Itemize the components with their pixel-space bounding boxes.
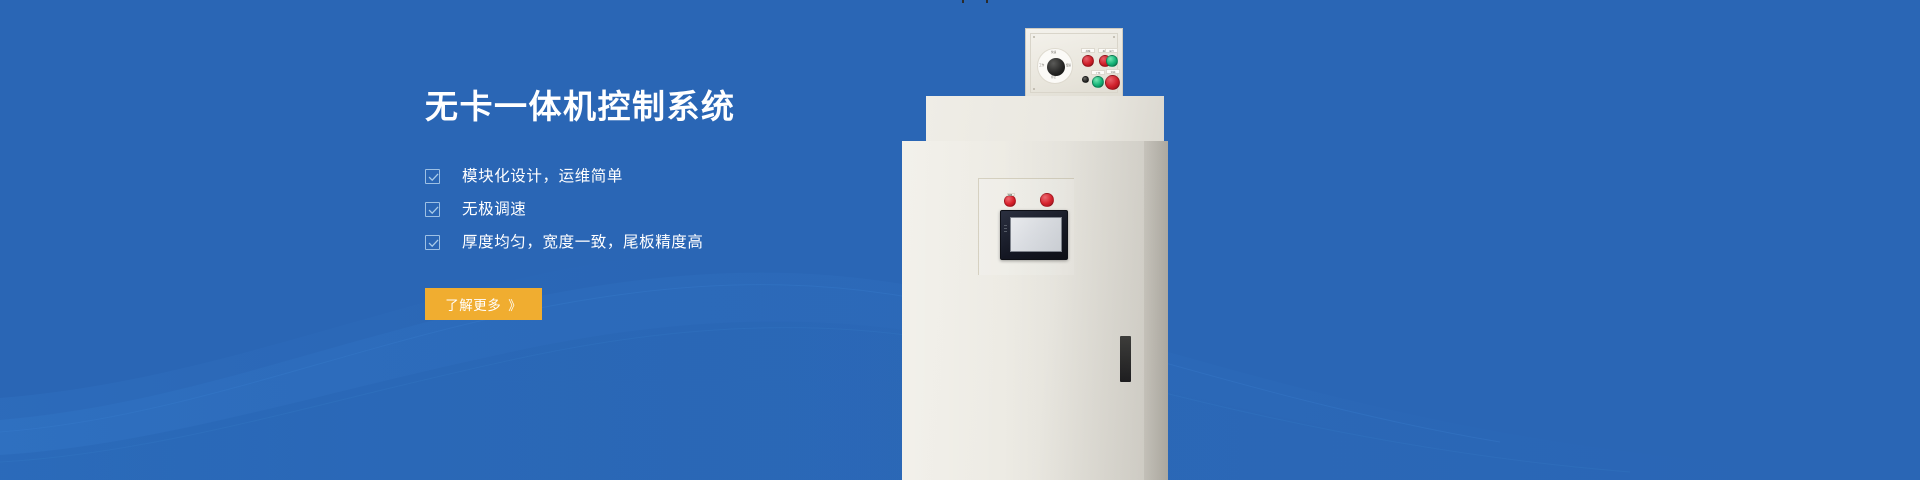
checkbox-checked-icon xyxy=(425,202,440,217)
feature-list: 模块化设计，运维简单 无极调速 厚度均匀，宽度一致，尾板精度高 xyxy=(425,160,1185,259)
panel-button-label: 工作 xyxy=(1091,70,1105,75)
panel-screw-icon xyxy=(1033,36,1035,38)
learn-more-button[interactable]: 了解更多 》 xyxy=(425,288,542,320)
cta-wrapper: 了解更多 》 xyxy=(425,288,1185,320)
feature-item: 无极调速 xyxy=(425,193,1185,226)
checkbox-checked-icon xyxy=(425,169,440,184)
panel-button-3 xyxy=(1106,55,1118,67)
feature-item: 模块化设计，运维简单 xyxy=(425,160,1185,193)
knob-tick-label: 快速 xyxy=(1051,52,1056,55)
panel-button-label: 故障 xyxy=(1081,48,1095,53)
hero-banner: 快速 工作 停止 慢速 故障 停止 运行 工作 急停 电源 xyxy=(0,0,1920,480)
knob-tick-label: 慢速 xyxy=(1066,65,1071,68)
checkbox-checked-icon xyxy=(425,235,440,250)
page-title: 无卡一体机控制系统 xyxy=(425,86,1185,127)
learn-more-label: 了解更多 xyxy=(445,294,501,314)
chevron-right-icon: 》 xyxy=(508,295,522,314)
knob-tick-label: 停止 xyxy=(1051,77,1056,80)
feature-item: 厚度均匀，宽度一致，尾板精度高 xyxy=(425,226,1185,259)
panel-screw-icon xyxy=(1113,36,1115,38)
panel-button-label: 运行 xyxy=(1105,48,1118,53)
knob-core-icon xyxy=(1047,58,1065,76)
panel-button-label: 急停 xyxy=(1106,69,1120,74)
hero-content: 无卡一体机控制系统 模块化设计，运维简单 无极调速 xyxy=(425,86,1185,320)
cabinet-vent-slot xyxy=(1120,336,1131,382)
feature-label: 厚度均匀，宽度一致，尾板精度高 xyxy=(462,235,704,251)
feature-label: 无极调速 xyxy=(462,202,526,218)
knob-tick-label: 工作 xyxy=(1039,65,1044,68)
rotary-selector-knob: 快速 工作 停止 慢速 xyxy=(1037,48,1073,84)
panel-button-1 xyxy=(1082,55,1094,67)
feature-label: 模块化设计，运维简单 xyxy=(462,169,623,185)
panel-cable xyxy=(962,0,988,3)
panel-button-4 xyxy=(1082,76,1089,83)
